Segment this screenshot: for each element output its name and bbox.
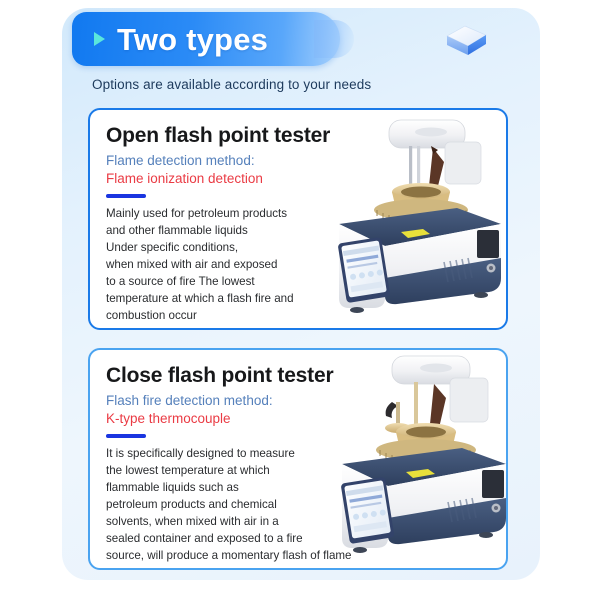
card-description: Mainly used for petroleum products and o… xyxy=(106,205,364,324)
card-content: Open flash point tester Flame detection … xyxy=(90,110,506,328)
method-value: K-type thermocouple xyxy=(106,410,490,428)
subtitle: Options are available according to your … xyxy=(92,77,371,92)
infographic-page: Two types Options are available accordin… xyxy=(0,0,600,600)
page-title: Two types xyxy=(117,24,268,55)
card-title: Close flash point tester xyxy=(106,364,490,387)
card-description: It is specifically designed to measure t… xyxy=(106,445,396,564)
method-label: Flame detection method: xyxy=(106,152,490,170)
cube-3d-icon xyxy=(441,22,491,62)
header-tab: Two types xyxy=(72,12,340,66)
accent-bar xyxy=(106,434,146,438)
card-content: Close flash point tester Flash fire dete… xyxy=(90,350,506,568)
card-open-flash-point-tester[interactable]: Open flash point tester Flame detection … xyxy=(88,108,508,330)
card-close-flash-point-tester[interactable]: Close flash point tester Flash fire dete… xyxy=(88,348,508,570)
play-triangle-icon xyxy=(94,32,105,46)
accent-bar xyxy=(106,194,146,198)
card-title: Open flash point tester xyxy=(106,124,490,147)
method-value: Flame ionization detection xyxy=(106,170,490,188)
method-label: Flash fire detection method: xyxy=(106,392,490,410)
